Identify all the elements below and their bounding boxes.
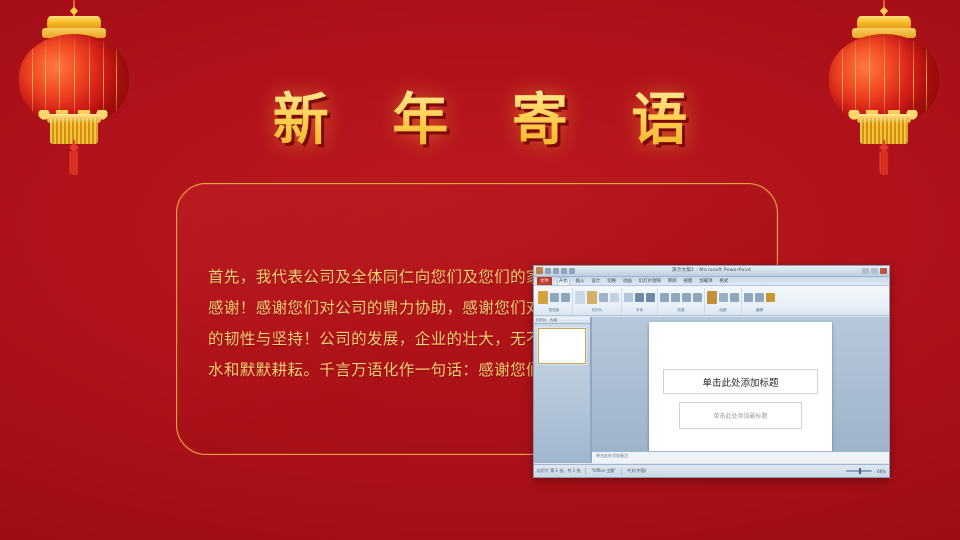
tab-home[interactable]: 开始 bbox=[557, 277, 570, 285]
section-icon[interactable] bbox=[610, 293, 619, 302]
tab-outline[interactable]: 大纲 bbox=[550, 318, 557, 323]
slide-thumbnail-1[interactable] bbox=[538, 328, 586, 364]
ribbon-group-label: 段落 bbox=[677, 308, 684, 313]
ribbon-group-drawing[interactable]: 绘图 bbox=[705, 288, 742, 315]
ribbon[interactable]: 剪贴板 幻灯片 字体 bbox=[534, 286, 889, 316]
status-theme: "Office 主题" bbox=[591, 468, 616, 474]
font-icon[interactable] bbox=[624, 293, 633, 302]
select-icon[interactable] bbox=[766, 293, 775, 302]
ribbon-group-paragraph[interactable]: 段落 bbox=[658, 288, 705, 315]
shapes-icon[interactable] bbox=[707, 291, 717, 304]
replace-icon[interactable] bbox=[755, 293, 764, 302]
maximize-button[interactable] bbox=[871, 268, 878, 274]
bullets-icon[interactable] bbox=[660, 293, 669, 302]
lantern-tassel-icon bbox=[880, 151, 889, 175]
title-placeholder[interactable]: 单击此处添加标题 bbox=[663, 369, 818, 394]
lantern-tassel-icon bbox=[70, 151, 79, 175]
status-divider bbox=[621, 468, 622, 475]
tab-slideshow[interactable]: 幻灯片放映 bbox=[638, 278, 662, 285]
slide-edit-area[interactable]: 单击此处添加标题 单击此处添加副标题 bbox=[592, 317, 889, 463]
columns-icon[interactable] bbox=[693, 293, 702, 302]
copy-icon[interactable] bbox=[561, 293, 570, 302]
font-size-icon[interactable] bbox=[635, 293, 644, 302]
status-slide-info: 幻灯片 第 1 张，共 1 张 bbox=[537, 468, 580, 474]
ribbon-group-font[interactable]: 字体 bbox=[622, 288, 658, 315]
cut-icon[interactable] bbox=[550, 293, 559, 302]
ribbon-tab-strip[interactable]: 文件 开始 插入 设计 切换 动画 幻灯片放映 审阅 视图 加载项 格式 bbox=[534, 277, 889, 286]
tab-review[interactable]: 审阅 bbox=[667, 278, 678, 285]
tab-view[interactable]: 视图 bbox=[683, 278, 694, 285]
window-controls[interactable] bbox=[862, 268, 887, 274]
arrange-icon[interactable] bbox=[719, 293, 728, 302]
powerpoint-window[interactable]: 演示文稿1 - Microsoft PowerPoint 文件 开始 插入 设计… bbox=[533, 265, 890, 478]
ribbon-group-slides[interactable]: 幻灯片 bbox=[573, 288, 622, 315]
new-slide-icon[interactable] bbox=[575, 291, 585, 304]
status-language: 中文(中国) bbox=[627, 468, 646, 474]
reset-icon[interactable] bbox=[599, 293, 608, 302]
slide-navigation-pane[interactable]: 幻灯片 大纲 bbox=[534, 317, 592, 463]
find-icon[interactable] bbox=[744, 293, 753, 302]
ppt-document-title: 演示文稿1 - Microsoft PowerPoint bbox=[534, 267, 889, 273]
numbering-icon[interactable] bbox=[671, 293, 680, 302]
close-button[interactable] bbox=[880, 268, 887, 274]
zoom-slider[interactable] bbox=[846, 470, 872, 472]
ribbon-group-clipboard[interactable]: 剪贴板 bbox=[536, 288, 573, 315]
bold-icon[interactable] bbox=[646, 293, 655, 302]
tab-addins[interactable]: 加载项 bbox=[698, 278, 713, 285]
page-title: 新 年 寄 语 bbox=[0, 88, 960, 154]
tab-format[interactable]: 格式 bbox=[719, 278, 730, 285]
lantern-bead-icon bbox=[880, 7, 888, 15]
zoom-level[interactable]: 66% bbox=[877, 469, 886, 474]
slide-canvas: 新 年 寄 语 首先，我代表公司及全体同仁向您们及您们的家人表示衷心的 感谢！感… bbox=[0, 0, 960, 540]
tab-file[interactable]: 文件 bbox=[537, 277, 552, 285]
tab-slides[interactable]: 幻灯片 bbox=[536, 318, 547, 323]
lantern-bead-icon bbox=[70, 7, 78, 15]
quick-styles-icon[interactable] bbox=[730, 293, 739, 302]
notes-pane[interactable]: 单击此处添加备注 bbox=[592, 451, 889, 463]
ppt-status-bar: 幻灯片 第 1 张，共 1 张 "Office 主题" 中文(中国) 66% bbox=[534, 464, 889, 477]
ribbon-group-label: 剪贴板 bbox=[549, 308, 560, 313]
slide-surface[interactable]: 单击此处添加标题 单击此处添加副标题 bbox=[649, 322, 832, 452]
tab-animations[interactable]: 动画 bbox=[622, 278, 633, 285]
align-icon[interactable] bbox=[682, 293, 691, 302]
status-divider bbox=[585, 468, 586, 475]
minimize-button[interactable] bbox=[862, 268, 869, 274]
tab-transitions[interactable]: 切换 bbox=[606, 278, 617, 285]
zoom-slider-handle[interactable] bbox=[859, 468, 861, 474]
ppt-work-area: 幻灯片 大纲 单击此处添加标题 单击此处添加副标题 单击此处添加备注 bbox=[534, 317, 889, 463]
ribbon-group-label: 编辑 bbox=[756, 308, 763, 313]
ppt-title-bar[interactable]: 演示文稿1 - Microsoft PowerPoint bbox=[534, 266, 889, 277]
tab-insert[interactable]: 插入 bbox=[575, 278, 586, 285]
ribbon-group-label: 幻灯片 bbox=[592, 308, 603, 313]
layout-icon[interactable] bbox=[587, 291, 597, 304]
nav-pane-tabs[interactable]: 幻灯片 大纲 bbox=[534, 317, 591, 324]
subtitle-placeholder[interactable]: 单击此处添加副标题 bbox=[679, 402, 802, 429]
tab-design[interactable]: 设计 bbox=[590, 278, 601, 285]
paste-icon[interactable] bbox=[538, 291, 548, 304]
ribbon-group-editing[interactable]: 编辑 bbox=[742, 288, 777, 315]
ribbon-group-label: 字体 bbox=[636, 308, 643, 313]
ribbon-group-label: 绘图 bbox=[719, 308, 726, 313]
